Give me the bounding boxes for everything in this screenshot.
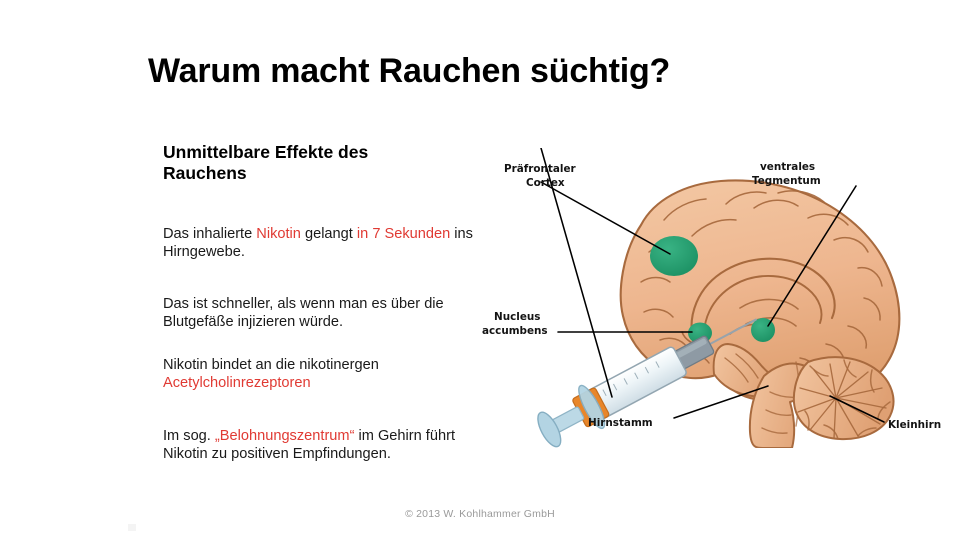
body-paragraph-1: Das inhalierte Nikotin gelangt in 7 Seku… bbox=[163, 225, 498, 262]
section-subheading: Unmittelbare Effekte des Rauchens bbox=[163, 142, 453, 185]
text-run: Das inhalierte bbox=[163, 226, 256, 242]
body-paragraph-4: Im sog. „Belohnungszentrum“ im Gehirn fü… bbox=[163, 427, 498, 464]
label-nucleus-accumbens-line1: Nucleus bbox=[494, 311, 540, 323]
label-praefrontaler-cortex-line2: Cortex bbox=[526, 177, 565, 189]
label-kleinhirn-line1: Kleinhirn bbox=[888, 419, 941, 431]
body-paragraph-2: Das ist schneller, als wenn man es über … bbox=[163, 295, 498, 332]
label-kleinhirn: Kleinhirn bbox=[888, 419, 941, 431]
highlighted-text-run: in 7 Sekunden bbox=[357, 226, 450, 242]
label-praefrontaler-cortex-line1: Präfrontaler bbox=[504, 163, 577, 175]
copyright-footer: © 2013 W. Kohlhammer GmbH bbox=[0, 508, 960, 520]
marker-praefrontaler-cortex bbox=[650, 236, 698, 276]
brain-diagram: Präfrontaler Cortex ventrales Tegmentum … bbox=[478, 148, 960, 448]
label-nucleus-accumbens: Nucleus accumbens bbox=[482, 311, 548, 337]
label-nucleus-accumbens-line2: accumbens bbox=[482, 325, 548, 337]
label-praefrontaler-cortex: Präfrontaler Cortex bbox=[504, 163, 577, 189]
text-run: Das ist schneller, als wenn man es über … bbox=[163, 296, 444, 330]
page-title: Warum macht Rauchen süchtig? bbox=[148, 52, 670, 91]
slide-canvas: Warum macht Rauchen süchtig? Unmittelbar… bbox=[0, 0, 960, 540]
highlighted-text-run: Nikotin bbox=[256, 226, 301, 242]
label-hirnstamm: Hirnstamm bbox=[588, 417, 653, 429]
label-ventrales-tegmentum: ventrales Tegmentum bbox=[752, 161, 821, 187]
label-ventrales-tegmentum-line1: ventrales bbox=[760, 161, 815, 173]
label-ventrales-tegmentum-line2: Tegmentum bbox=[752, 175, 821, 187]
corner-artifact bbox=[128, 524, 136, 531]
label-hirnstamm-line1: Hirnstamm bbox=[588, 417, 653, 429]
text-run: Im sog. bbox=[163, 428, 215, 444]
body-paragraph-3: Nikotin bindet an die nikotinergen Acety… bbox=[163, 356, 498, 393]
highlighted-text-run: Acetylcholinrezeptoren bbox=[163, 375, 311, 391]
text-run: Nikotin bindet an die nikotinergen bbox=[163, 357, 379, 373]
text-run: gelangt bbox=[301, 226, 357, 242]
highlighted-text-run: „Belohnungszentrum“ bbox=[215, 428, 355, 444]
